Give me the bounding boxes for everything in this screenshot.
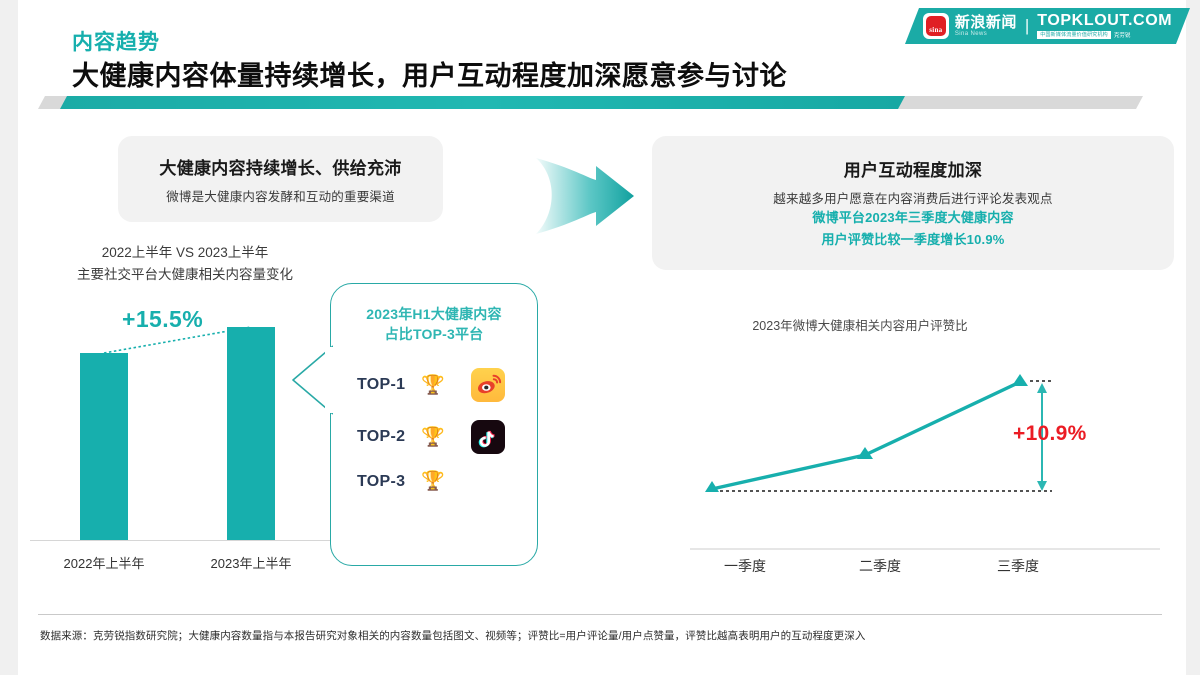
top3-row-3: TOP-3 🏆 (357, 472, 445, 491)
brand-logo-bar: sina 新浪新闻 Sina News | TOPKLOUT.COM 中国新媒体… (905, 8, 1190, 44)
topklout-wordmark: TOPKLOUT.COM 中国新媒体流量价值研究机构 克劳锐 (1037, 13, 1172, 39)
bar-xtick-2023: 2023年上半年 (191, 553, 311, 572)
title-rule-teal (60, 96, 905, 109)
right-arrow-icon (534, 152, 644, 242)
footer-source-note: 数据来源：克劳锐指数研究院；大健康内容数量指与本报告研究对象相关的内容数量包括图… (40, 628, 1170, 643)
summary-card-right: 用户互动程度加深 越来越多用户愿意在内容消费后进行评论发表观点 微博平台2023… (652, 136, 1174, 270)
douyin-logo-icon (471, 420, 505, 454)
bar-2023 (227, 327, 275, 540)
delta-arrow-head-down (1037, 481, 1047, 491)
left-page-edge (0, 0, 18, 675)
sina-logo-icon: sina (923, 13, 949, 39)
sina-name-cn: 新浪新闻 (955, 15, 1017, 30)
bar-trend-dotted-line (30, 290, 350, 580)
top3-callout-title-line2: 占比TOP-3平台 (331, 324, 537, 344)
top3-rank-label-2: TOP-2 (357, 428, 411, 446)
top3-row-2: TOP-2 🏆 (357, 420, 505, 454)
sina-mark-label: sina (926, 16, 946, 36)
slide-canvas: sina 新浪新闻 Sina News | TOPKLOUT.COM 中国新媒体… (0, 0, 1200, 675)
weibo-logo-icon (471, 368, 505, 402)
summary-card-right-accent-1: 微博平台2023年三季度大健康内容 (812, 207, 1013, 228)
topklout-tagline-tail: 克劳锐 (1114, 31, 1131, 39)
top3-callout-title: 2023年H1大健康内容 占比TOP-3平台 (331, 304, 537, 345)
line-chart-title: 2023年微博大健康相关内容用户评赞比 (700, 315, 1020, 334)
bar-xtick-2022: 2022年上半年 (44, 553, 164, 572)
bar-chart: 2022年上半年 2023年上半年 (30, 290, 350, 580)
line-marker-q3 (1012, 374, 1028, 386)
bar-chart-caption: 2022上半年 VS 2023上半年 主要社交平台大健康相关内容量变化 (45, 242, 325, 287)
top3-rank-label-3: TOP-3 (357, 473, 411, 491)
summary-card-right-accent-2: 用户评赞比较一季度增长10.9% (821, 229, 1004, 250)
line-xtick-q3: 三季度 (963, 556, 1073, 576)
logo-divider: | (1025, 16, 1029, 36)
summary-card-left: 大健康内容持续增长、供给充沛 微博是大健康内容发酵和互动的重要渠道 (118, 136, 443, 222)
sina-wordmark: 新浪新闻 Sina News (955, 15, 1017, 37)
top3-rank-label-1: TOP-1 (357, 376, 411, 394)
bar-chart-axis (30, 540, 350, 541)
page-title: 大健康内容体量持续增长，用户互动程度加深愿意参与讨论 (72, 54, 787, 93)
topklout-tagline: 中国新媒体流量价值研究机构 克劳锐 (1037, 31, 1172, 39)
footer-divider (38, 614, 1162, 615)
topklout-name: TOPKLOUT.COM (1037, 13, 1172, 29)
bar-chart-subtitle: 主要社交平台大健康相关内容量变化 (45, 264, 325, 286)
top3-callout: 2023年H1大健康内容 占比TOP-3平台 TOP-1 🏆 (330, 283, 538, 566)
line-delta-label: +10.9% (1013, 422, 1087, 446)
summary-card-right-title: 用户互动程度加深 (844, 156, 982, 181)
bar-2022 (80, 353, 128, 540)
trophy-gold-icon: 🏆 (421, 376, 445, 395)
summary-card-left-title: 大健康内容持续增长、供给充沛 (159, 154, 401, 179)
summary-card-left-subtitle: 微博是大健康内容发酵和互动的重要渠道 (166, 186, 395, 205)
line-xtick-q2: 二季度 (825, 556, 935, 576)
section-kicker: 内容趋势 (72, 26, 160, 56)
summary-card-right-subtitle: 越来越多用户愿意在内容消费后进行评论发表观点 (773, 188, 1052, 207)
sina-name-en: Sina News (955, 31, 1017, 37)
line-xtick-q1: 一季度 (690, 556, 800, 576)
delta-arrow-head-up (1037, 383, 1047, 393)
callout-pointer-icon (291, 344, 333, 416)
top3-row-1: TOP-1 🏆 (357, 368, 505, 402)
trophy-bronze-icon: 🏆 (421, 472, 445, 491)
line-series-path (712, 382, 1020, 489)
right-page-edge (1186, 0, 1200, 675)
trophy-silver-icon: 🏆 (421, 428, 445, 447)
topklout-tagline-band: 中国新媒体流量价值研究机构 (1037, 31, 1111, 39)
line-chart (690, 335, 1160, 565)
bar-chart-title: 2022上半年 VS 2023上半年 (45, 242, 325, 264)
top3-callout-title-line1: 2023年H1大健康内容 (331, 304, 537, 324)
